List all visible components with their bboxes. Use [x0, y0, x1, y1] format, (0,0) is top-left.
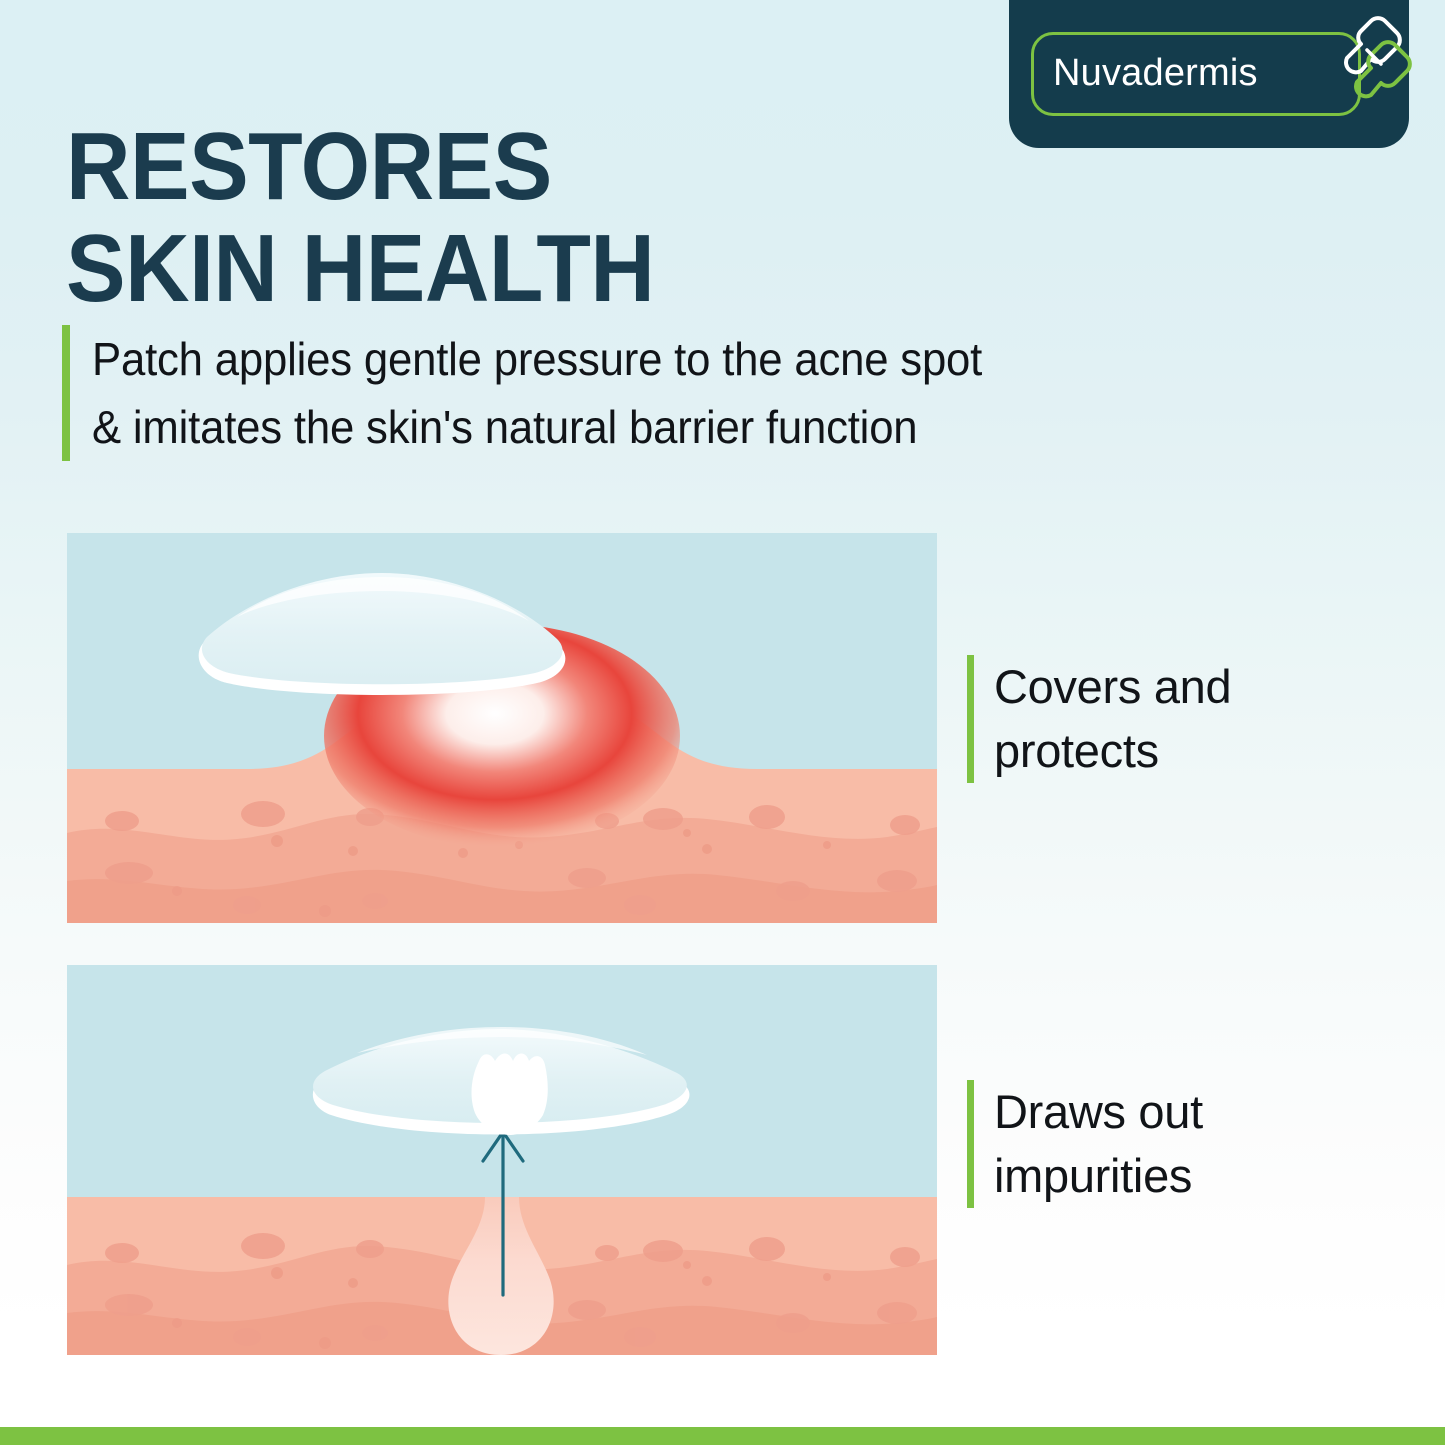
caption-accent-bar — [967, 655, 974, 783]
caption-text: Draws out impurities — [994, 1080, 1203, 1208]
caption-line-2: impurities — [994, 1144, 1203, 1208]
logo-wordmark: Nuvadermis — [1053, 52, 1258, 95]
footer-accent-bar — [0, 1427, 1445, 1445]
subtitle-text: Patch applies gentle pressure to the acn… — [92, 325, 982, 461]
caption-line-2: protects — [994, 719, 1231, 783]
infographic-page: Nuvadermis RESTORES SKIN HEALTH Patch ap… — [0, 0, 1445, 1445]
acne-patch-above-bump-illustration — [67, 533, 937, 923]
illustration-panel-covers — [67, 533, 937, 923]
caption-line-1: Covers and — [994, 655, 1231, 719]
caption-covers-and-protects: Covers and protects — [967, 655, 1231, 783]
subtitle-line-2: & imitates the skin's natural barrier fu… — [92, 393, 982, 461]
subtitle-accent-bar — [62, 325, 70, 461]
caption-line-1: Draws out — [994, 1080, 1203, 1144]
illustration-panel-draws — [67, 965, 937, 1355]
caption-accent-bar — [967, 1080, 974, 1208]
subtitle-block: Patch applies gentle pressure to the acn… — [62, 325, 1029, 461]
subtitle-line-1: Patch applies gentle pressure to the acn… — [92, 325, 982, 393]
headline-line-2: SKIN HEALTH — [66, 218, 903, 320]
bandage-link-icon — [1331, 12, 1417, 120]
headline-line-1: RESTORES — [66, 116, 903, 218]
brand-logo-badge: Nuvadermis — [1009, 0, 1409, 148]
page-title: RESTORES SKIN HEALTH — [66, 116, 903, 320]
caption-draws-out-impurities: Draws out impurities — [967, 1080, 1203, 1208]
caption-text: Covers and protects — [994, 655, 1231, 783]
acne-patch-absorbing-illustration — [67, 965, 937, 1355]
